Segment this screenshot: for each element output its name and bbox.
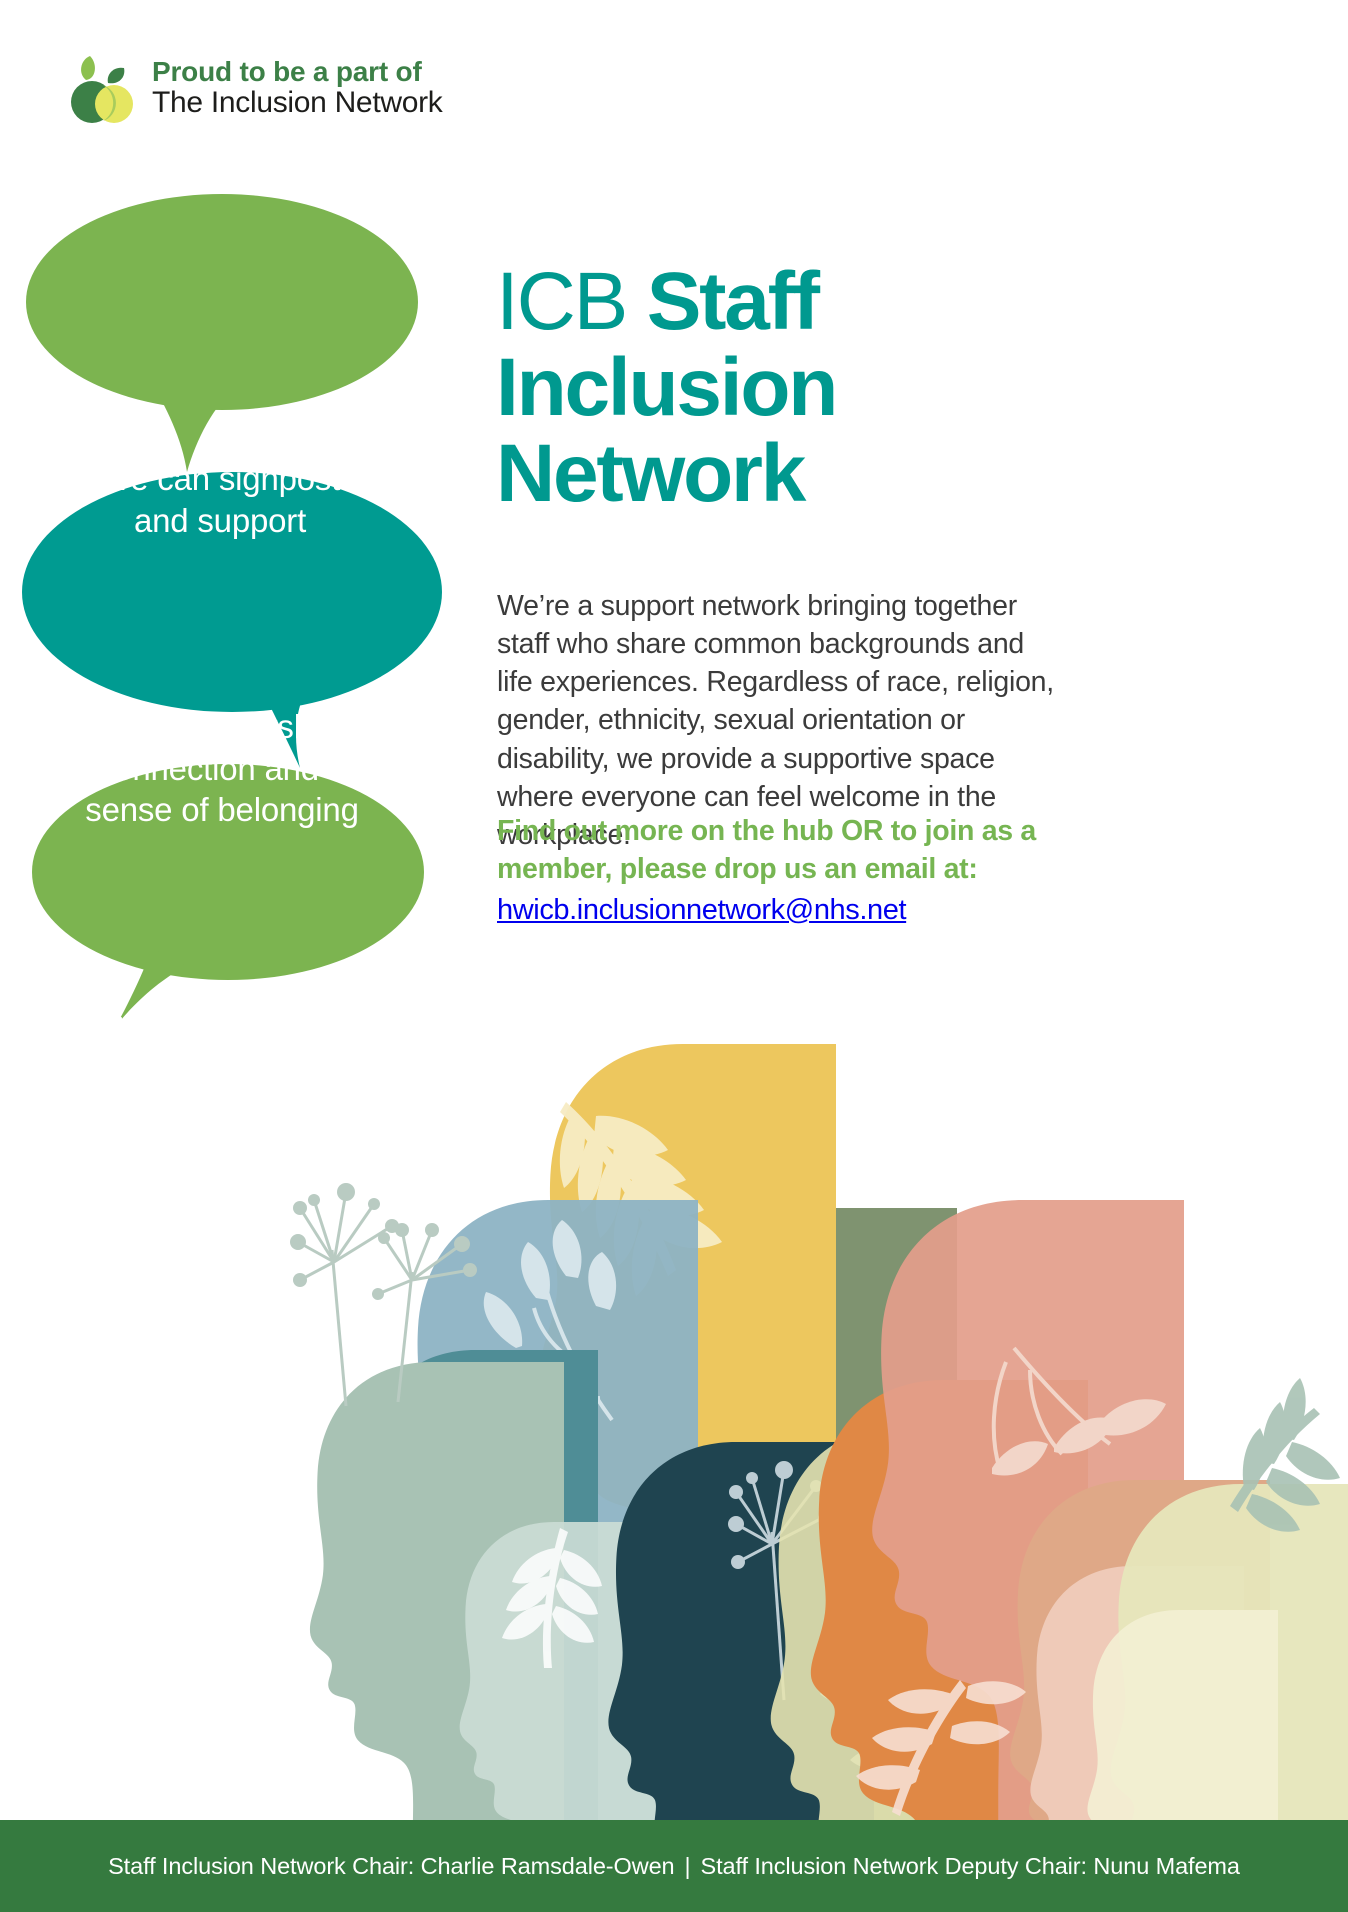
logo-tagline-line1: Proud to be a part of xyxy=(152,57,443,87)
page-title: ICB Staff Inclusion Network xyxy=(496,259,1096,517)
footer-deputy-chair: Staff Inclusion Network Deputy Chair: Nu… xyxy=(701,1853,1240,1879)
bubble-signpost-line2: and support xyxy=(134,502,306,539)
inclusion-network-fruit-logo xyxy=(66,52,138,124)
footer-credits: Staff Inclusion Network Chair: Charlie R… xyxy=(108,1853,1240,1880)
call-to-action: Find out more on the hub OR to join as a… xyxy=(497,813,1057,929)
footer-bar: Staff Inclusion Network Chair: Charlie R… xyxy=(0,1820,1348,1912)
footer-separator: | xyxy=(675,1853,701,1879)
speech-bubble-group: We can signpost and support We offer all… xyxy=(0,190,470,1020)
contact-email-link[interactable]: hwicb.inclusionnetwork@nhs.net xyxy=(497,891,1057,930)
bubble-allyship-line1: We offer allyship, xyxy=(98,708,346,745)
bubble-allyship-line2: connection and a xyxy=(98,750,346,787)
bubble-signpost-text: We can signpost and support xyxy=(40,458,400,541)
diverse-profile-silhouettes xyxy=(0,950,1348,1820)
inclusion-network-logo: Proud to be a part of The Inclusion Netw… xyxy=(66,52,443,124)
footer-chair: Staff Inclusion Network Chair: Charlie R… xyxy=(108,1853,674,1879)
bubble-allyship-text: We offer allyship, connection and a sens… xyxy=(32,706,412,831)
page-title-light: ICB xyxy=(496,256,647,347)
cta-heading: Find out more on the hub OR to join as a… xyxy=(497,815,1036,885)
silhouette-cream xyxy=(1087,1610,1278,1820)
logo-name-line2: The Inclusion Network xyxy=(152,87,443,119)
bubble-allyship-line3: sense of belonging xyxy=(85,791,358,828)
bubble-signpost-shape xyxy=(26,194,418,472)
bubble-signpost-line1: We can signpost xyxy=(100,460,340,497)
